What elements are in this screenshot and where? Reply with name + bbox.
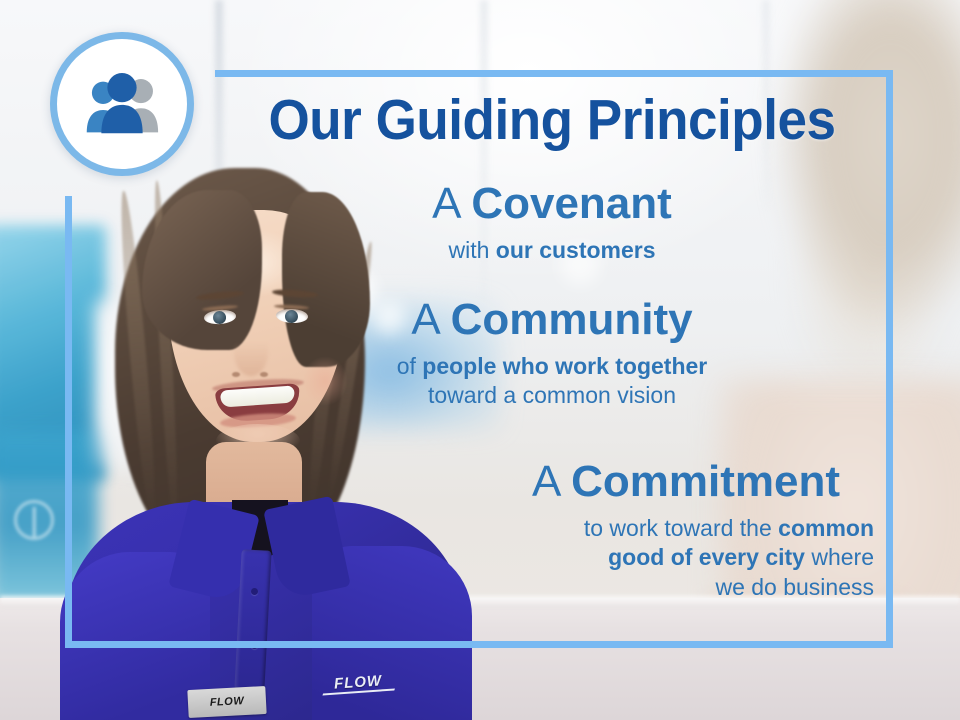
- principle-word: Commitment: [571, 457, 840, 506]
- subtext-plain: with: [448, 237, 495, 263]
- principle-subtext: with our customers: [216, 236, 888, 265]
- principle-article: A: [432, 179, 459, 228]
- principle-word: Covenant: [471, 179, 671, 228]
- subtext-plain: of: [397, 353, 423, 379]
- principle-subtext: to work toward the commongood of every c…: [216, 514, 888, 602]
- principle-subtext-line: toward a common vision: [216, 381, 888, 410]
- subtext-emphasis: our customers: [496, 237, 656, 263]
- subtext-emphasis: people who work together: [422, 353, 707, 379]
- principle-community: A Community of people who work togethert…: [216, 298, 888, 411]
- subtext-emphasis: common: [778, 515, 874, 541]
- subtext-plain: where: [805, 544, 874, 570]
- people-group-icon: [79, 70, 165, 138]
- chest-brand-logo: FLOW: [319, 669, 396, 694]
- principle-subtext-line: to work toward the common: [216, 514, 874, 543]
- name-badge-text: FLOW: [210, 695, 245, 709]
- principle-subtext-line: of people who work together: [216, 352, 888, 381]
- principle-lead: A Covenant: [216, 182, 888, 226]
- subtext-plain: we do business: [715, 574, 874, 600]
- subtext-emphasis: good of every city: [608, 544, 805, 570]
- employee-name-badge: FLOW: [187, 686, 266, 718]
- principle-word: Community: [451, 295, 693, 344]
- people-group-badge: [50, 32, 194, 176]
- principle-article: A: [411, 295, 438, 344]
- principle-commitment: A Commitment to work toward the commongo…: [216, 460, 888, 602]
- frame-border-bottom: [65, 641, 893, 648]
- frame-border-left: [65, 196, 72, 648]
- principle-subtext-line: with our customers: [216, 236, 888, 265]
- banner-root: FLOW FLOW Our Guiding Pr: [0, 0, 960, 720]
- principle-covenant: A Covenant with our customers: [216, 182, 888, 265]
- page-title: Our Guiding Principles: [240, 92, 865, 149]
- principle-subtext-line: we do business: [216, 573, 874, 602]
- subtext-plain: toward a common vision: [428, 382, 676, 408]
- principle-lead: A Community: [216, 298, 888, 342]
- principle-article: A: [532, 457, 559, 506]
- frame-border-top: [215, 70, 893, 77]
- principle-lead: A Commitment: [216, 460, 888, 504]
- subtext-plain: to work toward the: [584, 515, 778, 541]
- principle-subtext: of people who work togethertoward a comm…: [216, 352, 888, 411]
- principle-subtext-line: good of every city where: [216, 543, 874, 572]
